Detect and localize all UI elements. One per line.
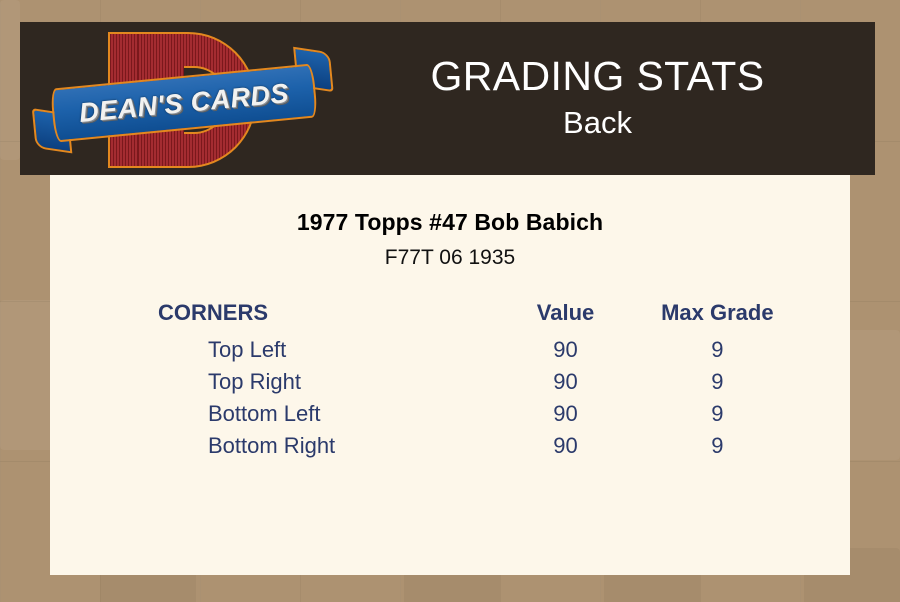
corner-label: Bottom Left (100, 398, 496, 430)
table-header-row: CORNERS Value Max Grade (100, 300, 800, 334)
table-row: Top Right 90 9 (100, 366, 800, 398)
corner-max-grade: 9 (635, 366, 800, 398)
card-id: F77T 06 1935 (50, 246, 850, 270)
header-bar: DEAN'S CARDS GRADING STATS Back (20, 22, 875, 175)
table-row: Top Left 90 9 (100, 334, 800, 366)
grading-stats-page: DEAN'S CARDS GRADING STATS Back 1977 Top… (0, 0, 900, 602)
corner-value: 90 (496, 430, 634, 462)
corner-value: 90 (496, 334, 634, 366)
corner-label: Top Right (100, 366, 496, 398)
page-subtitle: Back (563, 104, 632, 143)
deans-cards-logo[interactable]: DEAN'S CARDS (50, 30, 320, 170)
column-header-value: Value (496, 300, 634, 334)
table-row: Bottom Left 90 9 (100, 398, 800, 430)
content-panel: 1977 Topps #47 Bob Babich F77T 06 1935 C… (50, 175, 850, 575)
corner-label: Top Left (100, 334, 496, 366)
header-title-block: GRADING STATS Back (320, 22, 875, 175)
corner-max-grade: 9 (635, 430, 800, 462)
corner-max-grade: 9 (635, 398, 800, 430)
card-title: 1977 Topps #47 Bob Babich (50, 209, 850, 236)
corners-stats-table: CORNERS Value Max Grade Top Left 90 9 To… (100, 300, 800, 462)
column-header-max-grade: Max Grade (635, 300, 800, 334)
table-row: Bottom Right 90 9 (100, 430, 800, 462)
background-card-thumb (0, 0, 20, 160)
page-title: GRADING STATS (431, 55, 765, 98)
column-header-corners: CORNERS (100, 300, 496, 334)
corner-label: Bottom Right (100, 430, 496, 462)
corner-value: 90 (496, 366, 634, 398)
corner-value: 90 (496, 398, 634, 430)
corner-max-grade: 9 (635, 334, 800, 366)
